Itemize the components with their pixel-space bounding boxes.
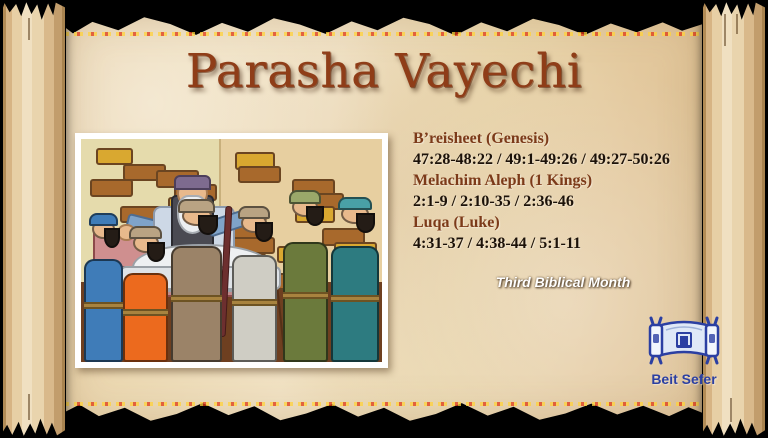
- jacob-blessing-illustration: [81, 139, 382, 362]
- figure-olive-green: [283, 139, 328, 362]
- reading-reference: 2:1-9 / 2:10-35 / 2:36-46: [413, 191, 713, 212]
- roller-right-seam-top: [724, 14, 726, 46]
- figure-robe: [232, 255, 277, 362]
- roller-right-seam-top2: [736, 14, 738, 34]
- reading-book-name: Melachim Aleph (1 Kings): [413, 170, 713, 191]
- figure-belt: [283, 292, 328, 299]
- figure-belt: [84, 302, 123, 309]
- parchment-torn-bottom-edge: [60, 400, 708, 426]
- figure-head-covering: [238, 206, 271, 219]
- biblical-month-label: Third Biblical Month: [413, 274, 713, 290]
- figure-head-covering: [129, 226, 162, 239]
- figure-head-covering: [289, 190, 322, 203]
- reading-reference: 4:31-37 / 4:38-44 / 5:1-11: [413, 233, 713, 254]
- figure-robe: [283, 242, 328, 362]
- figure-teal: [331, 139, 379, 362]
- scroll-poster: Parasha Vayechi: [0, 0, 768, 438]
- torah-readings-list: B’reisheet (Genesis)47:28-48:22 / 49:1-4…: [413, 128, 713, 254]
- beit-sefer-logo[interactable]: Beit Sefer: [640, 316, 728, 386]
- figure-orange: [123, 139, 168, 362]
- roller-left-bottom-cap: [2, 416, 66, 438]
- reading-book-name: B’reisheet (Genesis): [413, 128, 713, 149]
- figure-robe: [84, 259, 123, 362]
- figure-robe: [331, 246, 379, 362]
- figure-head-covering: [89, 213, 117, 226]
- figure-beard: [356, 213, 375, 233]
- figure-head-covering: [338, 197, 373, 210]
- reading-book-name: Luqa (Luke): [413, 212, 713, 233]
- torah-scroll-icon: [640, 316, 728, 370]
- figure-belt: [232, 299, 277, 306]
- illustration-frame: [75, 133, 388, 368]
- roller-right-top-cap: [702, 0, 766, 22]
- parchment-torn-top-edge: [60, 12, 708, 38]
- roller-left-seam-top: [28, 18, 30, 40]
- roller-right-bottom-cap: [702, 416, 766, 438]
- parchment-bottom-fringe: [60, 402, 708, 406]
- figure-blue-left: [84, 139, 123, 362]
- figure-head-covering: [178, 199, 215, 212]
- figure-belt: [123, 309, 168, 316]
- parchment-top-fringe: [60, 32, 708, 36]
- logo-name: Beit Sefer: [640, 371, 728, 387]
- figure-beard: [147, 242, 165, 262]
- page-title: Parasha Vayechi: [0, 44, 768, 99]
- figure-beard: [255, 222, 273, 242]
- figure-robe: [171, 246, 222, 362]
- figure-belt: [331, 295, 379, 302]
- reading-reference: 47:28-48:22 / 49:1-49:26 / 49:27-50:26: [413, 149, 713, 170]
- figure-beard: [104, 228, 120, 248]
- figure-beard: [306, 206, 324, 226]
- figure-robe: [123, 273, 168, 362]
- figure-brown: [171, 139, 222, 362]
- figure-belt: [171, 295, 222, 302]
- figure-beard: [198, 215, 218, 235]
- roller-left-top-cap: [2, 0, 66, 22]
- roller-right-seam-bottom: [730, 398, 732, 422]
- roller-left-seam-bottom: [28, 394, 30, 420]
- figure-grey: [232, 139, 277, 362]
